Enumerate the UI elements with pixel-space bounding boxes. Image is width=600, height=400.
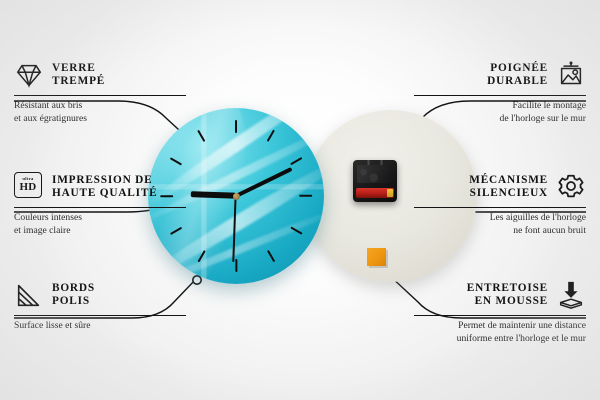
hanging-frame-icon [556, 60, 586, 90]
foam-spacer-icon [556, 280, 586, 310]
feature-description: Les aiguilles de l'horloge ne font aucun… [414, 212, 586, 237]
feature-title-line1: ENTRETOISE [467, 282, 548, 295]
feature-desc-line2: de l'horloge sur le mur [414, 113, 586, 125]
feature-title-line1: MÉCANISME [469, 174, 548, 187]
feature-desc-line1: Permet de maintenir une distance [414, 320, 586, 332]
polished-edges-icon [14, 280, 44, 310]
feature-desc-line2: et aux égratignures [14, 113, 186, 125]
feature-title: ENTRETOISE EN MOUSSE [467, 282, 548, 309]
feature-title: VERRE TREMPÉ [52, 62, 105, 89]
feature-description: Couleurs intenses et image claire [14, 212, 186, 237]
feature-rule [414, 315, 586, 316]
feature-desc-line1: Résistant aux bris [14, 100, 186, 112]
quartz-mechanism [353, 160, 397, 202]
gear-icon [556, 172, 586, 202]
hour-hand [191, 192, 236, 199]
feature-rule [414, 95, 586, 96]
feature-title: BORDS POLIS [52, 282, 95, 309]
diamond-icon [14, 60, 44, 90]
feature-title-line1: BORDS [52, 282, 95, 295]
feature-rule [414, 207, 586, 208]
feature-verre-trempe: VERRE TREMPÉ Résistant aux bris et aux é… [14, 58, 186, 125]
feature-title-line2: EN MOUSSE [467, 295, 548, 308]
feature-rule [14, 95, 186, 96]
second-hand [233, 196, 237, 262]
feature-title: POIGNÉE DURABLE [487, 62, 548, 89]
hands-center-cap [233, 193, 240, 200]
feature-desc-line2: et image claire [14, 225, 186, 237]
feature-desc-line1: Surface lisse et sûre [14, 320, 186, 332]
minute-hand [235, 167, 292, 198]
feature-description: Résistant aux bris et aux égratignures [14, 100, 186, 125]
feature-desc-line1: Facilite le montage [414, 100, 586, 112]
battery [356, 188, 394, 198]
feature-title-line2: HAUTE QUALITÉ [52, 187, 158, 200]
feature-description: Surface lisse et sûre [14, 320, 186, 332]
feature-desc-line1: Couleurs intenses [14, 212, 186, 224]
feature-title-line1: VERRE [52, 62, 105, 75]
feature-title-line1: POIGNÉE [487, 62, 548, 75]
feature-title-line1: IMPRESSION DE [52, 174, 158, 187]
feature-rule [14, 315, 186, 316]
feature-mecanisme-silencieux: MÉCANISME SILENCIEUX Les aiguilles de l'… [414, 170, 586, 237]
feature-title-line2: POLIS [52, 295, 95, 308]
feature-impression-haute-qualite: ultra HD IMPRESSION DE HAUTE QUALITÉ Cou… [14, 170, 186, 237]
feature-title-line2: DURABLE [487, 75, 548, 88]
feature-description: Facilite le montage de l'horloge sur le … [414, 100, 586, 125]
ultra-hd-large-text: HD [20, 182, 37, 193]
feature-poignee-durable: POIGNÉE DURABLE Facilite le montage de l… [414, 58, 586, 125]
feature-desc-line1: Les aiguilles de l'horloge [414, 212, 586, 224]
feature-description: Permet de maintenir une distance uniform… [414, 320, 586, 345]
feature-title-line2: TREMPÉ [52, 75, 105, 88]
feature-rule [14, 207, 186, 208]
foam-spacer [367, 248, 386, 266]
feature-title-line2: SILENCIEUX [469, 187, 548, 200]
feature-entretoise-en-mousse: ENTRETOISE EN MOUSSE Permet de maintenir… [414, 278, 586, 345]
infographic-canvas: VERRE TREMPÉ Résistant aux bris et aux é… [0, 0, 600, 400]
feature-bords-polis: BORDS POLIS Surface lisse et sûre [14, 278, 186, 333]
ultra-hd-icon: ultra HD [14, 172, 44, 202]
feature-desc-line2: uniforme entre l'horloge et le mur [414, 333, 586, 345]
feature-desc-line2: ne font aucun bruit [414, 225, 586, 237]
feature-title: IMPRESSION DE HAUTE QUALITÉ [52, 174, 158, 201]
mechanism-housing [357, 165, 393, 183]
feature-title: MÉCANISME SILENCIEUX [469, 174, 548, 201]
